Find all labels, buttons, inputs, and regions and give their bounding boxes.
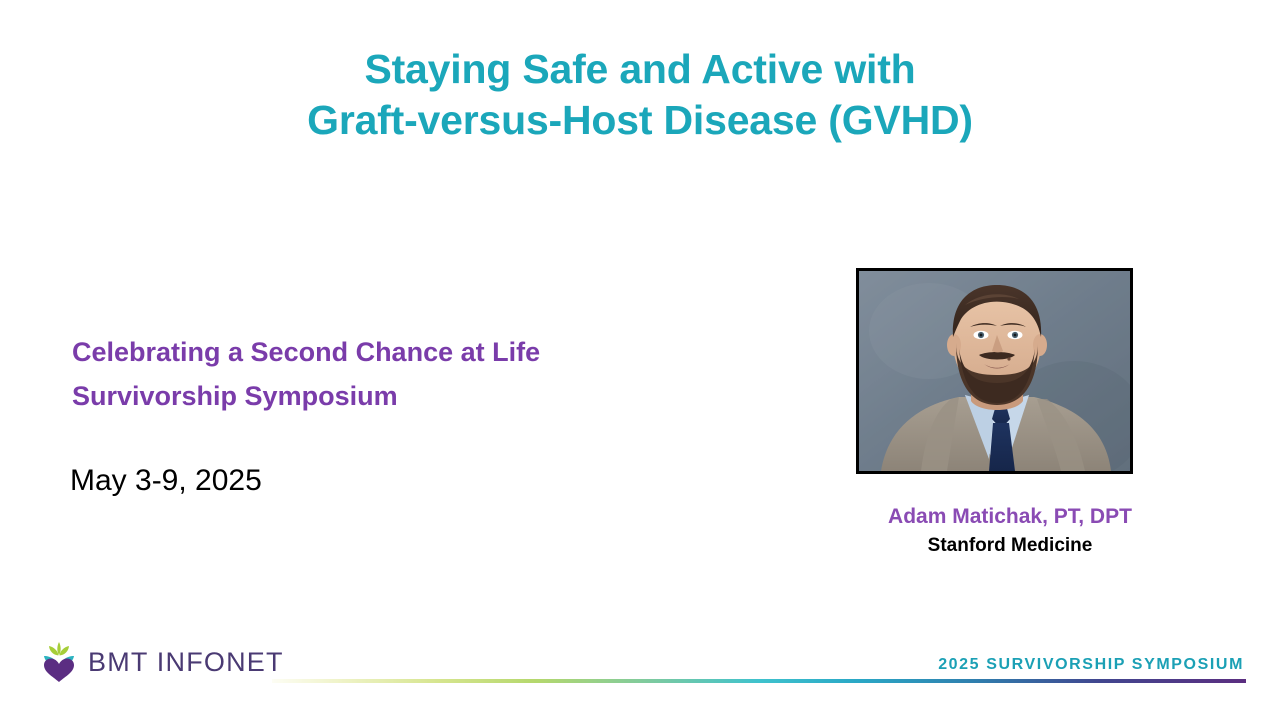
- event-name: Celebrating a Second Chance at Life Surv…: [72, 330, 792, 418]
- presentation-slide: Staying Safe and Active with Graft-versu…: [0, 0, 1280, 720]
- speaker-organization: Stanford Medicine: [800, 533, 1220, 558]
- sprout-heart-icon: [40, 641, 78, 683]
- slide-title: Staying Safe and Active with Graft-versu…: [0, 44, 1280, 146]
- bmt-infonet-logo: BMT INFONET: [40, 641, 284, 683]
- event-name-line-2: Survivorship Symposium: [72, 374, 792, 418]
- footer-gradient-rule: [272, 679, 1246, 683]
- slide-title-line-1: Staying Safe and Active with: [0, 44, 1280, 95]
- symposium-tag: 2025 SURVIVORSHIP SYMPOSIUM: [938, 656, 1244, 674]
- speaker-photo: [856, 268, 1133, 474]
- speaker-name: Adam Matichak, PT, DPT: [800, 504, 1220, 530]
- speaker-portrait-image: [859, 271, 1130, 471]
- event-dates: May 3-9, 2025: [70, 462, 262, 500]
- event-name-line-1: Celebrating a Second Chance at Life: [72, 330, 792, 374]
- slide-title-line-2: Graft-versus-Host Disease (GVHD): [0, 95, 1280, 146]
- bmt-infonet-wordmark: BMT INFONET: [88, 647, 284, 677]
